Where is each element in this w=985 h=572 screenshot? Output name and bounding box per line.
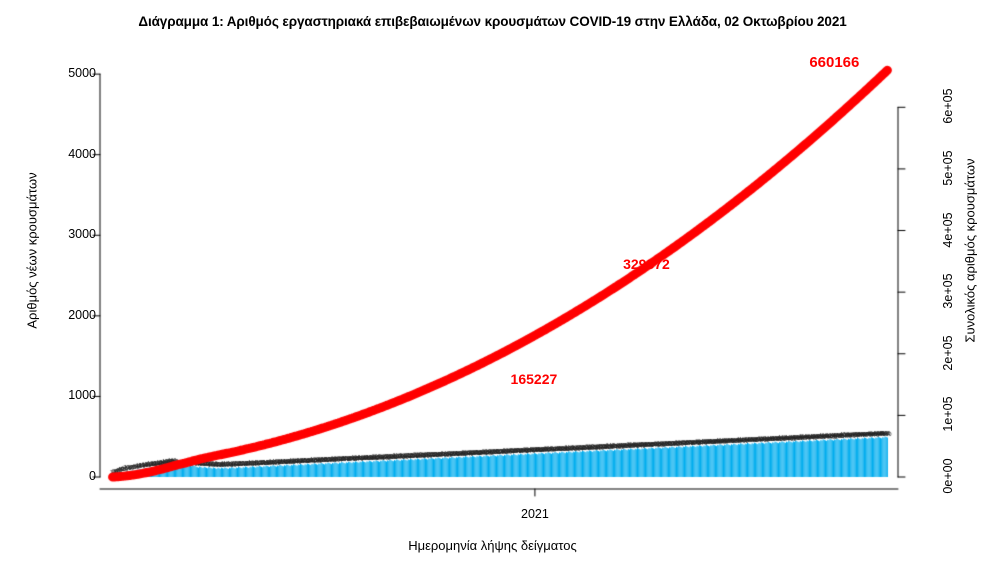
y-tick-left-3: 3000 [36,227,96,241]
page-title: Διάγραμμα 1: Αριθμός εργαστηριακά επιβεβ… [0,14,985,29]
y-tick-right-4: 4e+05 [941,200,955,260]
chart-figure: Διάγραμμα 1: Αριθμός εργαστηριακά επιβεβ… [0,0,985,572]
callout-165227: 165227 [511,371,558,387]
callout-329872: 329872 [623,256,670,272]
y-tick-right-3: 3e+05 [941,261,955,321]
y-tick-right-0: 0e+00 [941,446,955,506]
y-tick-right-1: 1e+05 [941,384,955,444]
x-axis-title: Ημερομηνία λήψης δείγματος [0,538,985,553]
y-tick-right-2: 2e+05 [941,323,955,383]
y-tick-left-0: 0 [36,469,96,483]
y-tick-left-1: 1000 [36,388,96,402]
y-tick-left-2: 2000 [36,308,96,322]
y-tick-left-5: 5000 [36,66,96,80]
callout-660166: 660166 [809,54,859,71]
y-tick-left-4: 4000 [36,147,96,161]
x-tick-0: 2021 [495,507,575,521]
y-axis-right-title: Συνολικός αριθμός κρουσμάτων [963,51,978,451]
y-tick-right-6: 6e+05 [941,76,955,136]
y-tick-right-5: 5e+05 [941,138,955,198]
covid-cases-chart-canvas [0,0,985,572]
